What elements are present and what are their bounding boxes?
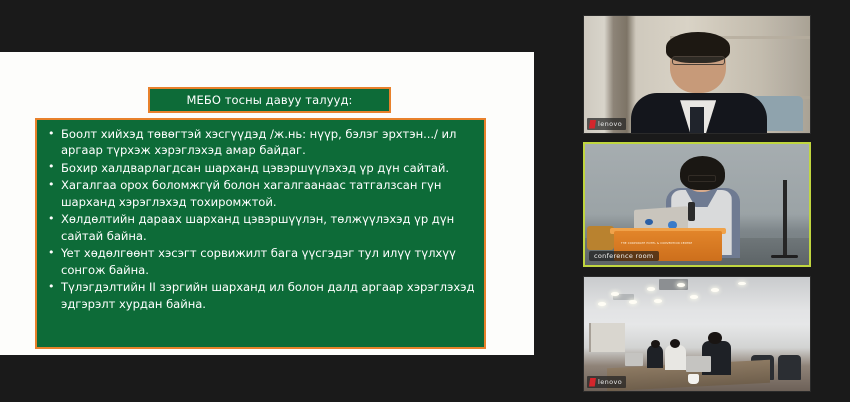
attendee bbox=[665, 345, 685, 370]
ceiling-light bbox=[654, 299, 662, 303]
slide-bullet-item: Хөлдөлтийн дараах шарханд цэвэршүүлэн, т… bbox=[41, 211, 476, 244]
video-conference-window: МЕБО тосны давуу талууд: Боолт хийхэд тө… bbox=[0, 0, 850, 402]
participant-name-badge: conference room bbox=[589, 251, 659, 261]
necktie bbox=[690, 107, 704, 133]
presentation-slide: МЕБО тосны давуу талууд: Боолт хийхэд тө… bbox=[0, 52, 534, 355]
slide-bullet-item: Хагалгаа орох боломжгүй болон хагалгаана… bbox=[41, 177, 476, 210]
slide-title-box: МЕБО тосны давуу талууд: bbox=[148, 87, 391, 113]
attendee-head bbox=[708, 332, 722, 345]
attendee-head bbox=[651, 340, 660, 348]
slide-title-text: МЕБО тосны давуу талууд: bbox=[186, 93, 352, 107]
participant-video-rail: lenovo THE CORPORATE HOTEL & CONVENT bbox=[573, 0, 850, 402]
side-cabinet bbox=[589, 323, 625, 353]
laptop bbox=[625, 353, 643, 366]
participant-tile-1[interactable]: lenovo bbox=[583, 15, 811, 134]
video-feed-3 bbox=[584, 277, 810, 391]
slide-bullet-item: Боолт хийхэд төвөгтэй хэсгүүдэд /ж.нь: н… bbox=[41, 126, 476, 159]
video-feed-1 bbox=[584, 16, 810, 133]
watermark-label: lenovo bbox=[598, 378, 622, 386]
lenovo-watermark: lenovo bbox=[587, 376, 626, 388]
presenter-hair bbox=[680, 156, 725, 190]
laptop-sticker bbox=[645, 219, 652, 225]
office-chair bbox=[778, 355, 801, 380]
mic-stand bbox=[783, 180, 786, 255]
ceiling-light bbox=[677, 283, 685, 287]
coffee-cup bbox=[688, 374, 699, 384]
slide-body-box: Боолт хийхэд төвөгтэй хэсгүүдэд /ж.нь: н… bbox=[35, 118, 486, 349]
screen-share-stage[interactable]: МЕБО тосны давуу талууд: Боолт хийхэд тө… bbox=[0, 0, 573, 402]
participant-tile-2-active-speaker[interactable]: THE CORPORATE HOTEL & CONVENTION CENTRE … bbox=[583, 142, 811, 267]
presenter-eyeglasses bbox=[688, 175, 716, 181]
video-feed-2: THE CORPORATE HOTEL & CONVENTION CENTRE bbox=[585, 144, 809, 265]
participant-tile-3[interactable]: lenovo bbox=[583, 276, 811, 392]
lenovo-logo-icon bbox=[589, 378, 596, 387]
lenovo-logo-icon bbox=[589, 120, 596, 129]
attendee bbox=[647, 345, 663, 368]
ceiling-light bbox=[629, 300, 637, 304]
laptop bbox=[686, 356, 711, 372]
mic-stand-base bbox=[771, 255, 798, 258]
slide-bullet-item: Бохир халдварлагдсан шарханд цэвэршүүлэх… bbox=[41, 160, 476, 176]
watermark-label: lenovo bbox=[598, 120, 622, 128]
eyeglasses bbox=[672, 56, 725, 65]
slide-bullet-list: Боолт хийхэд төвөгтэй хэсгүүдэд /ж.нь: н… bbox=[41, 126, 476, 312]
slide-bullet-item: Yeт хөдөлгөөнт хэсэгт сорвижилт бага үүс… bbox=[41, 245, 476, 278]
lenovo-watermark: lenovo bbox=[587, 118, 626, 130]
ceiling-light bbox=[598, 302, 606, 306]
handheld-microphone bbox=[688, 202, 695, 221]
ceiling-light bbox=[611, 292, 619, 296]
slide-bullet-item: Түлэгдэлтийн II зэргийн шарханд ил болон… bbox=[41, 279, 476, 312]
attendee-head bbox=[670, 339, 680, 348]
podium-engraving: THE CORPORATE HOTEL & CONVENTION CENTRE bbox=[619, 238, 695, 249]
